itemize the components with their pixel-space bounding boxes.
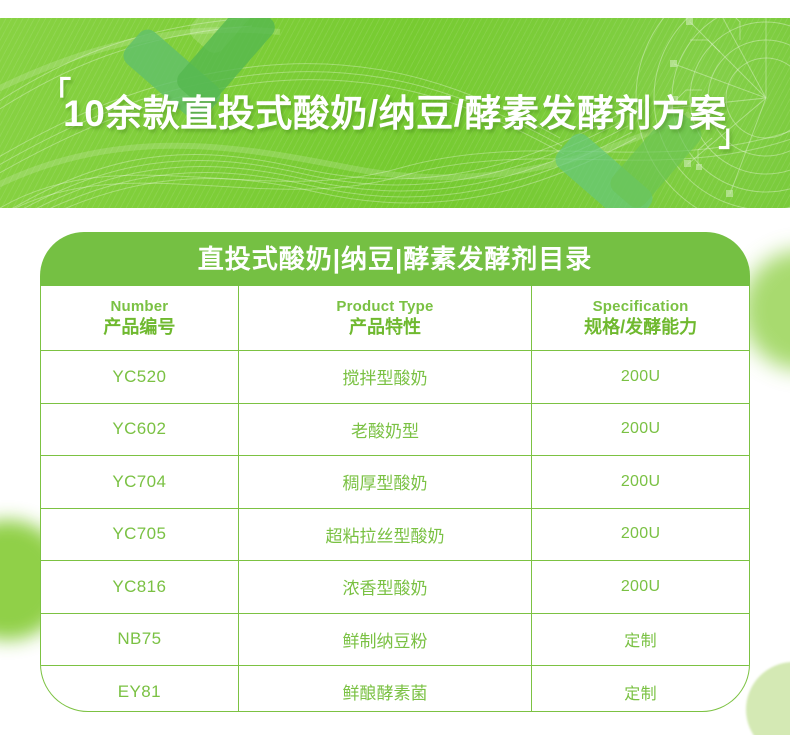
column-header-specification: Specification 规格/发酵能力 <box>532 286 749 351</box>
cell-product-number: YC705 <box>41 508 238 561</box>
cell-product-type: 老酸奶型 <box>238 403 531 456</box>
table-row: YC520 搅拌型酸奶 200U <box>41 351 749 404</box>
column-header-product-type: Product Type 产品特性 <box>238 286 531 351</box>
product-catalog-card: 直投式酸奶|纳豆|酵素发酵剂目录 Number 产品编号 Product Typ… <box>40 232 750 712</box>
cell-product-number: YC816 <box>41 561 238 614</box>
cell-product-number: YC520 <box>41 351 238 404</box>
table-row: YC705 超粘拉丝型酸奶 200U <box>41 508 749 561</box>
column-header-specification-zh: 规格/发酵能力 <box>532 317 749 338</box>
column-header-product-type-en: Product Type <box>239 298 531 316</box>
cell-product-type: 浓香型酸奶 <box>238 561 531 614</box>
cell-product-number: NB75 <box>41 613 238 666</box>
product-specification-table: Number 产品编号 Product Type 产品特性 Specificat… <box>41 286 749 712</box>
cell-product-type: 稠厚型酸奶 <box>238 456 531 509</box>
bracket-open-mark: 「 <box>41 79 72 109</box>
column-header-number-zh: 产品编号 <box>41 317 238 338</box>
table-row: YC602 老酸奶型 200U <box>41 403 749 456</box>
cell-product-type: 搅拌型酸奶 <box>238 351 531 404</box>
table-row: NB75 鲜制纳豆粉 定制 <box>41 613 749 666</box>
table-row: YC704 稠厚型酸奶 200U <box>41 456 749 509</box>
column-header-number: Number 产品编号 <box>41 286 238 351</box>
cell-specification: 200U <box>532 561 749 614</box>
cell-product-number: YC704 <box>41 456 238 509</box>
banner-title-block: 「 10余款直投式酸奶/纳豆/酵素发酵剂方案 」 <box>41 95 749 132</box>
cell-specification: 200U <box>532 403 749 456</box>
table-body-rows: YC520 搅拌型酸奶 200U YC602 老酸奶型 200U YC704 稠… <box>41 351 749 713</box>
hero-banner: 「 10余款直投式酸奶/纳豆/酵素发酵剂方案 」 <box>0 18 790 208</box>
cell-product-type: 鲜制纳豆粉 <box>238 613 531 666</box>
banner-title-text: 10余款直投式酸奶/纳豆/酵素发酵剂方案 <box>63 93 727 134</box>
decorative-blob-right-bottom <box>746 662 790 735</box>
catalog-header-bar: 直投式酸奶|纳豆|酵素发酵剂目录 <box>40 232 750 286</box>
bracket-close-mark: 」 <box>718 122 749 152</box>
cell-product-type: 鲜酿酵素菌 <box>238 666 531 713</box>
cell-specification: 200U <box>532 351 749 404</box>
cell-specification: 200U <box>532 508 749 561</box>
catalog-title: 直投式酸奶|纳豆|酵素发酵剂目录 <box>198 246 593 272</box>
cell-product-number: YC602 <box>41 403 238 456</box>
cell-product-type: 超粘拉丝型酸奶 <box>238 508 531 561</box>
catalog-table-container: Number 产品编号 Product Type 产品特性 Specificat… <box>40 286 750 712</box>
table-header-row: Number 产品编号 Product Type 产品特性 Specificat… <box>41 286 749 351</box>
cell-specification: 定制 <box>532 613 749 666</box>
banner-title-wrapper: 「 10余款直投式酸奶/纳豆/酵素发酵剂方案 」 <box>0 18 790 208</box>
table-row: YC816 浓香型酸奶 200U <box>41 561 749 614</box>
table-row: EY81 鲜酿酵素菌 定制 <box>41 666 749 713</box>
table-head: Number 产品编号 Product Type 产品特性 Specificat… <box>41 286 749 351</box>
cell-specification: 200U <box>532 456 749 509</box>
page-root: 「 10余款直投式酸奶/纳豆/酵素发酵剂方案 」 直投式酸奶|纳豆|酵素发酵剂目… <box>0 0 790 735</box>
column-header-specification-en: Specification <box>532 298 749 316</box>
cell-product-number: EY81 <box>41 666 238 713</box>
cell-specification: 定制 <box>532 666 749 713</box>
column-header-product-type-zh: 产品特性 <box>239 317 531 338</box>
column-header-number-en: Number <box>41 298 238 316</box>
